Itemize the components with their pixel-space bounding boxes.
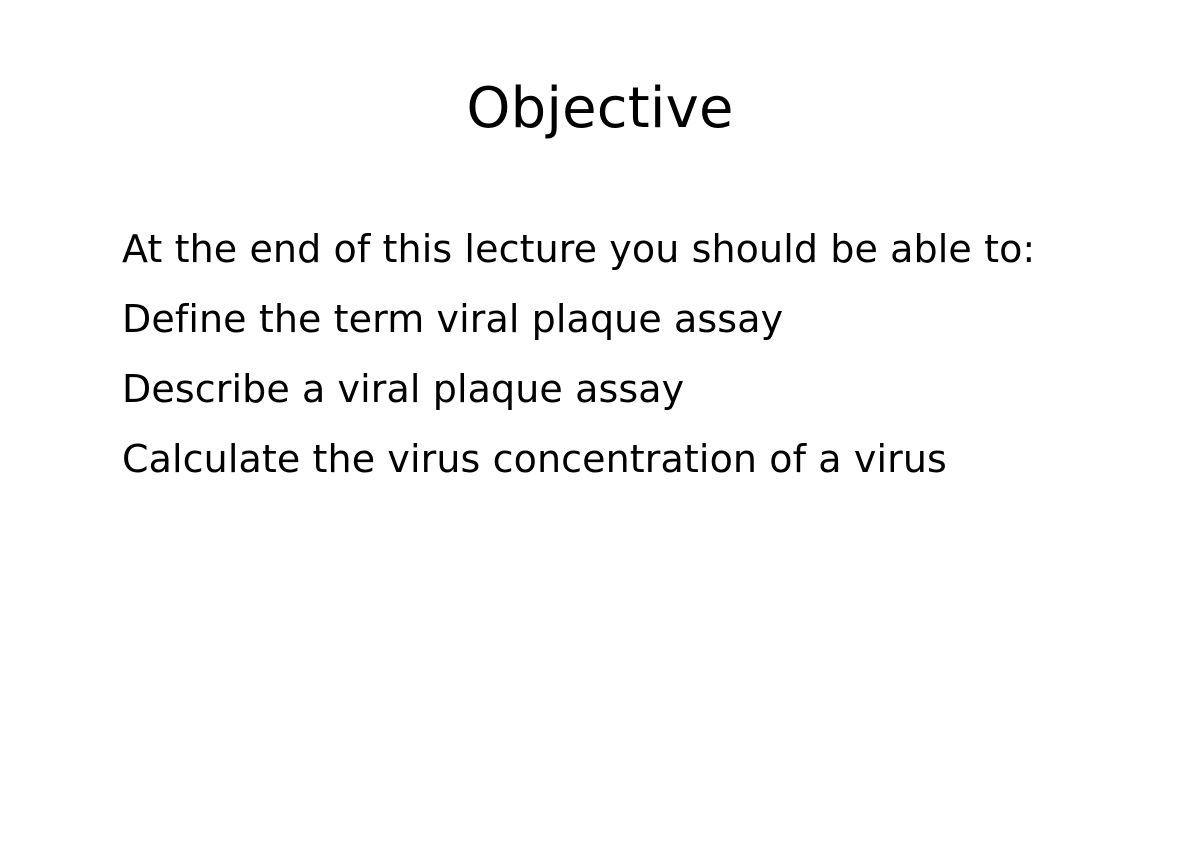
body-line: Calculate the virus concentration of a v… — [122, 424, 1122, 494]
body-line: At the end of this lecture you should be… — [122, 214, 1122, 284]
body-line: Define the term viral plaque assay — [122, 284, 1122, 354]
body-line: Describe a viral plaque assay — [122, 354, 1122, 424]
slide-body-text: At the end of this lecture you should be… — [122, 214, 1122, 494]
page-title: Objective — [0, 78, 1200, 141]
slide-canvas: Objective At the end of this lecture you… — [0, 0, 1200, 848]
